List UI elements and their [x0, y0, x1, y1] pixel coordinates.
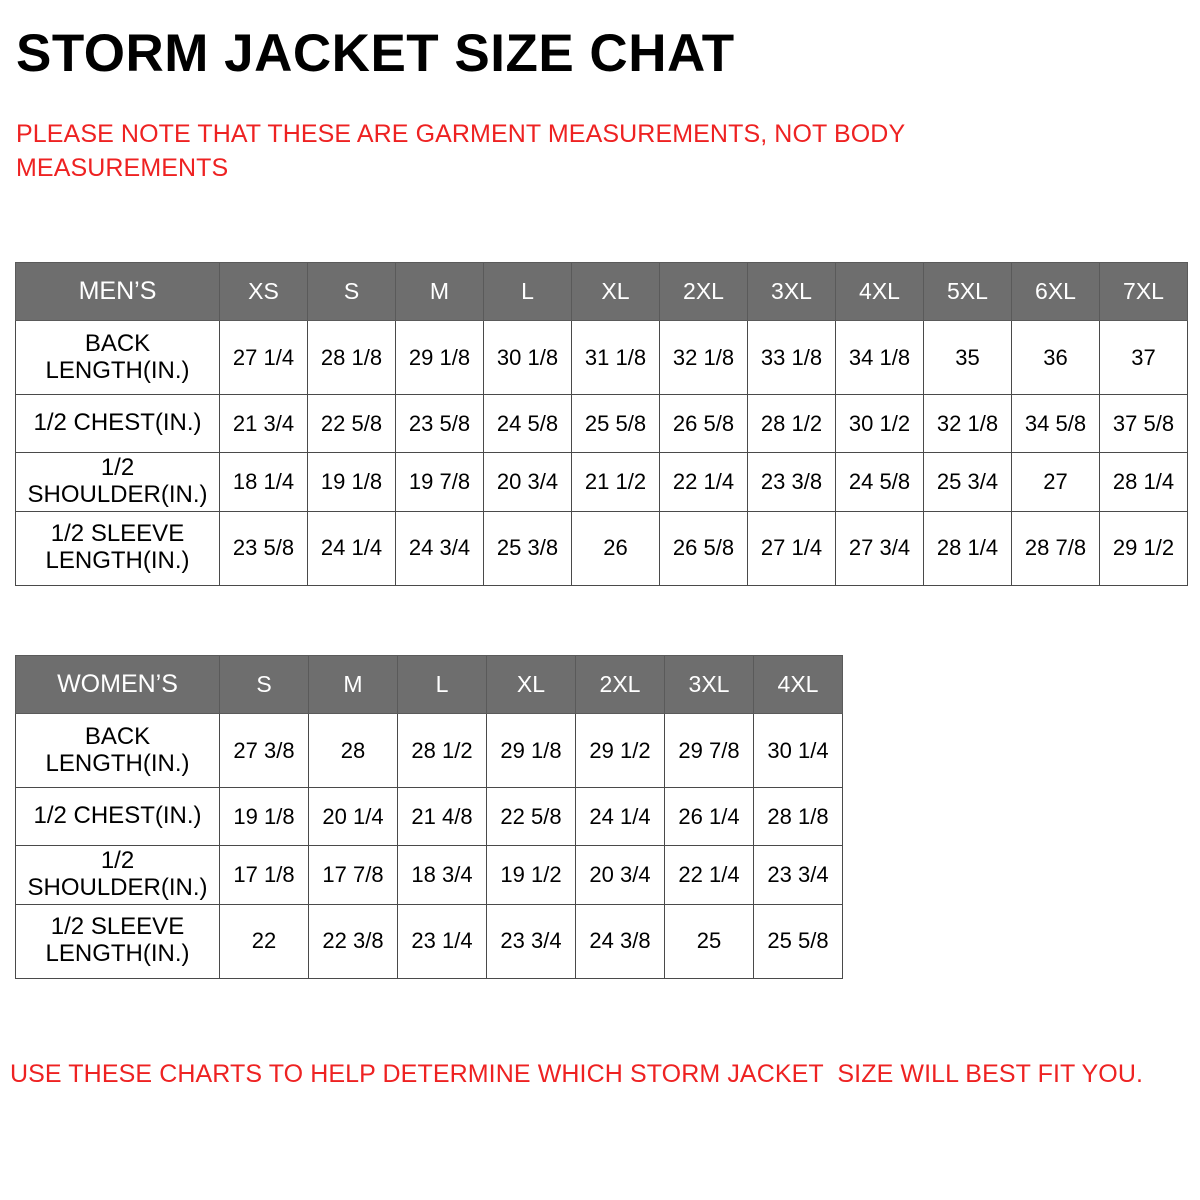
measurement-cell: 23 5/8 [396, 395, 484, 453]
table-row: 1/2 CHEST(IN.)21 3/422 5/823 5/824 5/825… [16, 395, 1188, 453]
measurement-cell: 19 7/8 [396, 453, 484, 512]
mens-corner-label: MEN’S [16, 263, 220, 321]
measurement-row-label: BACKLENGTH(IN.) [16, 714, 220, 788]
size-column-header: XL [487, 656, 576, 714]
garment-measurement-note: PLEASE NOTE THAT THESE ARE GARMENT MEASU… [16, 118, 976, 186]
measurement-cell: 28 1/8 [754, 788, 843, 846]
measurement-row-label: 1/2 CHEST(IN.) [16, 395, 220, 453]
measurement-cell: 34 1/8 [836, 321, 924, 395]
size-chart-page: STORM JACKET SIZE CHAT PLEASE NOTE THAT … [0, 0, 1200, 1200]
size-column-header: S [308, 263, 396, 321]
measurement-cell: 18 3/4 [398, 846, 487, 905]
measurement-cell: 20 3/4 [484, 453, 572, 512]
measurement-cell: 28 1/2 [748, 395, 836, 453]
measurement-cell: 17 7/8 [309, 846, 398, 905]
size-column-header: 7XL [1100, 263, 1188, 321]
womens-table-head: WOMEN’SSMLXL2XL3XL4XL [16, 656, 843, 714]
measurement-cell: 23 3/4 [754, 846, 843, 905]
measurement-cell: 26 5/8 [660, 511, 748, 585]
size-column-header: L [398, 656, 487, 714]
measurement-cell: 29 1/8 [396, 321, 484, 395]
measurement-cell: 27 1/4 [748, 511, 836, 585]
size-column-header: 3XL [748, 263, 836, 321]
measurement-cell: 25 5/8 [572, 395, 660, 453]
measurement-cell: 28 1/4 [924, 511, 1012, 585]
mens-table-head: MEN’SXSSMLXL2XL3XL4XL5XL6XL7XL [16, 263, 1188, 321]
womens-table-body: BACKLENGTH(IN.)27 3/82828 1/229 1/829 1/… [16, 714, 843, 979]
measurement-cell: 22 1/4 [660, 453, 748, 512]
measurement-cell: 30 1/4 [754, 714, 843, 788]
size-column-header: 5XL [924, 263, 1012, 321]
table-row: 1/2 SLEEVELENGTH(IN.)23 5/824 1/424 3/42… [16, 511, 1188, 585]
measurement-cell: 26 1/4 [665, 788, 754, 846]
measurement-cell: 20 1/4 [309, 788, 398, 846]
mens-header-row: MEN’SXSSMLXL2XL3XL4XL5XL6XL7XL [16, 263, 1188, 321]
table-row: 1/2 SHOULDER(IN.)17 1/817 7/818 3/419 1/… [16, 846, 843, 905]
measurement-row-label: 1/2 SHOULDER(IN.) [16, 846, 220, 905]
measurement-cell: 29 7/8 [665, 714, 754, 788]
size-column-header: 4XL [836, 263, 924, 321]
mens-table-body: BACKLENGTH(IN.)27 1/428 1/829 1/830 1/83… [16, 321, 1188, 586]
measurement-cell: 19 1/8 [308, 453, 396, 512]
size-column-header: S [220, 656, 309, 714]
table-row: 1/2 CHEST(IN.)19 1/820 1/421 4/822 5/824… [16, 788, 843, 846]
measurement-cell: 36 [1012, 321, 1100, 395]
womens-header-row: WOMEN’SSMLXL2XL3XL4XL [16, 656, 843, 714]
measurement-cell: 25 5/8 [754, 904, 843, 978]
table-row: BACKLENGTH(IN.)27 1/428 1/829 1/830 1/83… [16, 321, 1188, 395]
measurement-cell: 28 1/8 [308, 321, 396, 395]
measurement-cell: 26 [572, 511, 660, 585]
size-column-header: XS [220, 263, 308, 321]
measurement-cell: 30 1/2 [836, 395, 924, 453]
measurement-cell: 22 [220, 904, 309, 978]
measurement-row-label: 1/2 CHEST(IN.) [16, 788, 220, 846]
chart-usage-note: USE THESE CHARTS TO HELP DETERMINE WHICH… [10, 1058, 1190, 1091]
size-column-header: M [396, 263, 484, 321]
measurement-cell: 32 1/8 [660, 321, 748, 395]
measurement-cell: 25 [665, 904, 754, 978]
measurement-cell: 25 3/4 [924, 453, 1012, 512]
measurement-cell: 24 3/8 [576, 904, 665, 978]
measurement-cell: 23 5/8 [220, 511, 308, 585]
measurement-row-label: 1/2 SLEEVELENGTH(IN.) [16, 904, 220, 978]
measurement-cell: 18 1/4 [220, 453, 308, 512]
measurement-cell: 22 5/8 [308, 395, 396, 453]
measurement-cell: 21 3/4 [220, 395, 308, 453]
measurement-cell: 21 4/8 [398, 788, 487, 846]
measurement-cell: 28 1/4 [1100, 453, 1188, 512]
womens-size-table: WOMEN’SSMLXL2XL3XL4XL BACKLENGTH(IN.)27 … [15, 655, 843, 979]
measurement-cell: 24 5/8 [836, 453, 924, 512]
measurement-cell: 24 3/4 [396, 511, 484, 585]
size-column-header: XL [572, 263, 660, 321]
measurement-row-label: 1/2 SLEEVELENGTH(IN.) [16, 511, 220, 585]
size-column-header: 2XL [660, 263, 748, 321]
mens-size-table: MEN’SXSSMLXL2XL3XL4XL5XL6XL7XL BACKLENGT… [15, 262, 1188, 586]
measurement-cell: 28 7/8 [1012, 511, 1100, 585]
size-column-header: 2XL [576, 656, 665, 714]
measurement-cell: 25 3/8 [484, 511, 572, 585]
table-row: 1/2 SLEEVELENGTH(IN.)2222 3/823 1/423 3/… [16, 904, 843, 978]
measurement-cell: 27 3/4 [836, 511, 924, 585]
measurement-cell: 22 5/8 [487, 788, 576, 846]
measurement-cell: 23 3/4 [487, 904, 576, 978]
size-column-header: M [309, 656, 398, 714]
measurement-cell: 22 1/4 [665, 846, 754, 905]
womens-corner-label: WOMEN’S [16, 656, 220, 714]
measurement-cell: 26 5/8 [660, 395, 748, 453]
measurement-cell: 34 5/8 [1012, 395, 1100, 453]
measurement-cell: 32 1/8 [924, 395, 1012, 453]
measurement-cell: 29 1/2 [1100, 511, 1188, 585]
table-row: BACKLENGTH(IN.)27 3/82828 1/229 1/829 1/… [16, 714, 843, 788]
measurement-cell: 30 1/8 [484, 321, 572, 395]
table-row: 1/2 SHOULDER(IN.)18 1/419 1/819 7/820 3/… [16, 453, 1188, 512]
measurement-cell: 29 1/2 [576, 714, 665, 788]
measurement-cell: 28 1/2 [398, 714, 487, 788]
measurement-cell: 24 1/4 [576, 788, 665, 846]
size-column-header: 4XL [754, 656, 843, 714]
measurement-cell: 29 1/8 [487, 714, 576, 788]
measurement-cell: 24 5/8 [484, 395, 572, 453]
measurement-cell: 33 1/8 [748, 321, 836, 395]
measurement-cell: 24 1/4 [308, 511, 396, 585]
size-column-header: 6XL [1012, 263, 1100, 321]
measurement-cell: 23 3/8 [748, 453, 836, 512]
size-column-header: 3XL [665, 656, 754, 714]
measurement-cell: 27 [1012, 453, 1100, 512]
measurement-cell: 28 [309, 714, 398, 788]
size-column-header: L [484, 263, 572, 321]
page-title: STORM JACKET SIZE CHAT [16, 26, 735, 82]
measurement-row-label: BACKLENGTH(IN.) [16, 321, 220, 395]
measurement-cell: 21 1/2 [572, 453, 660, 512]
measurement-cell: 20 3/4 [576, 846, 665, 905]
measurement-cell: 19 1/2 [487, 846, 576, 905]
measurement-cell: 27 3/8 [220, 714, 309, 788]
measurement-row-label: 1/2 SHOULDER(IN.) [16, 453, 220, 512]
measurement-cell: 37 5/8 [1100, 395, 1188, 453]
measurement-cell: 35 [924, 321, 1012, 395]
measurement-cell: 23 1/4 [398, 904, 487, 978]
measurement-cell: 19 1/8 [220, 788, 309, 846]
measurement-cell: 22 3/8 [309, 904, 398, 978]
measurement-cell: 31 1/8 [572, 321, 660, 395]
measurement-cell: 37 [1100, 321, 1188, 395]
measurement-cell: 27 1/4 [220, 321, 308, 395]
measurement-cell: 17 1/8 [220, 846, 309, 905]
